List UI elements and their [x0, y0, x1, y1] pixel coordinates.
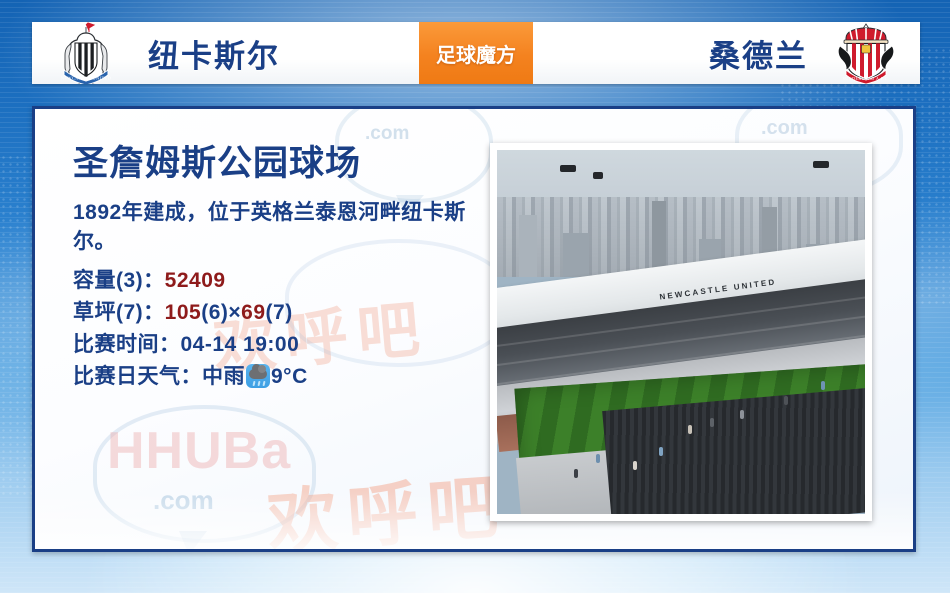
- stadium-title: 圣詹姆斯公园球场: [73, 145, 493, 184]
- match-weather-label: 比赛日天气：: [73, 365, 202, 388]
- floodlight-mid: [593, 172, 603, 179]
- stadium-description: 1892年建成，位于英格兰泰恩河畔纽卡斯尔。: [73, 198, 493, 258]
- pitch-size-row: 草坪(7)：105(6)×69(7): [73, 297, 493, 329]
- photo-spectator: [740, 410, 744, 419]
- away-team-name: 桑德兰: [709, 31, 808, 76]
- stadium-info-panel: .com .com HHUBa .com 欢呼吧 欢呼吧 圣詹姆斯公园球场 18…: [32, 106, 916, 552]
- match-weather-text: 中雨: [202, 365, 245, 388]
- match-time-value: 04-14 19:00: [181, 333, 300, 356]
- photo-spectator: [821, 381, 825, 390]
- match-temperature: 9°C: [271, 365, 308, 388]
- newcastle-united-crest: NEWCASTLE UNITED: [50, 22, 122, 82]
- photo-spectator: [710, 418, 714, 427]
- match-time-row: 比赛时间：04-14 19:00: [73, 329, 493, 361]
- pitch-width-value: 69: [241, 301, 265, 324]
- st-james-park-photo-frame: NEWCASTLE UNITED: [490, 143, 872, 521]
- match-time-label: 比赛时间：: [73, 333, 181, 356]
- photo-spectator: [574, 469, 578, 478]
- capacity-row: 容量(3)：52409: [73, 265, 493, 297]
- capacity-value: 52409: [165, 269, 226, 292]
- svg-text:SUNDERLAND A.F.C.: SUNDERLAND A.F.C.: [843, 76, 890, 81]
- st-james-park-photo: NEWCASTLE UNITED: [497, 150, 865, 514]
- photo-spectator: [596, 454, 600, 463]
- stadium-info-column: 圣詹姆斯公园球场 1892年建成，位于英格兰泰恩河畔纽卡斯尔。 容量(3)：52…: [73, 145, 493, 393]
- home-team-block[interactable]: NEWCASTLE UNITED 纽卡斯尔: [32, 24, 419, 82]
- site-logo-text: 足球魔方: [436, 39, 516, 68]
- capacity-label: 容量(3)：: [73, 269, 165, 292]
- match-weather-row: 比赛日天气：中雨 9°C: [73, 361, 493, 393]
- rain-cloud-icon: [246, 364, 270, 388]
- home-team-name: 纽卡斯尔: [148, 31, 280, 76]
- pitch-length-rank: (6): [201, 301, 228, 324]
- sunderland-crest: SUNDERLAND A.F.C.: [830, 22, 902, 82]
- watermark-dotcom-topright: .com: [761, 117, 808, 140]
- pitch-size-label: 草坪(7)：: [73, 301, 165, 324]
- watermark-site-name: HHUBa: [107, 421, 291, 481]
- watermark-dotcom-top: .com: [365, 123, 409, 145]
- away-team-block[interactable]: 桑德兰 SUNDERLAND A.F.C.: [533, 24, 920, 82]
- pitch-length-value: 105: [165, 301, 202, 324]
- match-header-bar: NEWCASTLE UNITED 纽卡斯尔 足球魔方 桑德兰 SUNDERLAN…: [32, 22, 920, 84]
- site-logo[interactable]: 足球魔方: [419, 22, 533, 84]
- pitch-size-times: ×: [228, 301, 241, 324]
- floodlight-right: [813, 161, 829, 168]
- svg-text:NEWCASTLE UNITED: NEWCASTLE UNITED: [61, 76, 111, 81]
- pitch-width-rank: (7): [266, 301, 293, 324]
- floodlight-left: [560, 165, 576, 172]
- photo-spectator: [688, 425, 692, 434]
- photo-spectator: [784, 396, 788, 405]
- photo-spectator: [659, 447, 663, 456]
- photo-spectator: [633, 461, 637, 470]
